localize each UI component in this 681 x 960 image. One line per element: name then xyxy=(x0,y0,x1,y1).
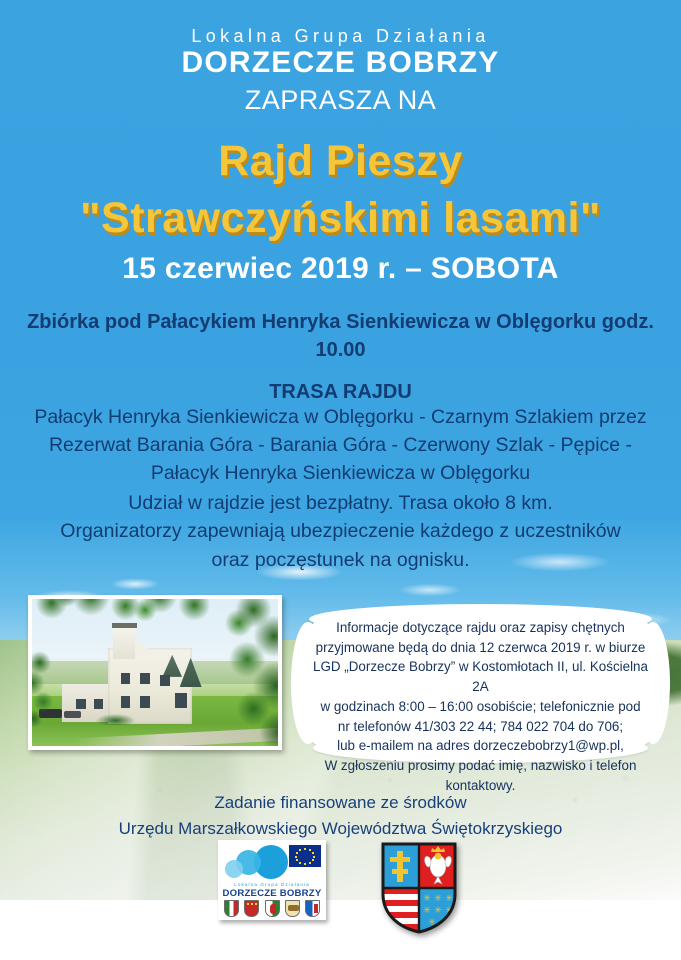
route-line-1: Pałacyk Henryka Sienkiewicza w Oblęgorku… xyxy=(18,403,663,431)
contact-info-text: Informacje dotyczące rajdu oraz zapisy c… xyxy=(307,618,654,795)
photo-window xyxy=(160,675,170,685)
svg-text:✳: ✳ xyxy=(434,893,442,903)
route-heading: TRASA RAJDU xyxy=(0,381,681,404)
logo-row: Lokalna Grupa Działania DORZECZE BOBRZY xyxy=(0,840,681,945)
contact-line-6: lub e-mailem na adres dorzeczebobrzy1@wp… xyxy=(307,736,654,756)
svg-text:✳: ✳ xyxy=(445,893,453,903)
participation-line-2: Organizatorzy zapewniają ubezpieczenie k… xyxy=(30,517,651,545)
route-description: Pałacyk Henryka Sienkiewicza w Oblęgorku… xyxy=(18,403,663,487)
route-line-3: Pałacyk Henryka Sienkiewicza w Oblęgorku xyxy=(18,459,663,487)
contact-line-5: nr telefonów 41/303 22 44; 784 022 704 d… xyxy=(307,717,654,737)
shield-icon-4 xyxy=(285,900,300,917)
organizer-name: DORZECZE BOBRZY xyxy=(0,46,681,80)
participation-line-1: Udział w rajdzie jest bezpłatny. Trasa o… xyxy=(30,489,651,517)
palace-photo-image xyxy=(32,599,278,746)
route-line-2: Rezerwat Barania Góra - Barania Góra - C… xyxy=(18,431,663,459)
contact-line-7: W zgłoszeniu prosimy podać imię, nazwisk… xyxy=(307,756,654,776)
photo-window xyxy=(121,673,131,685)
event-title-line1: Rajd Pieszy xyxy=(218,137,463,185)
coat-of-arms-icon: ✳✳✳ ✳✳✳ ✳✳ xyxy=(381,842,457,934)
photo-window xyxy=(76,699,86,709)
event-title-line2: "Strawczyńskimi lasami" xyxy=(0,190,681,247)
photo-foliage-canopy xyxy=(32,599,278,643)
photo-window xyxy=(121,696,131,708)
funding-note: Zadanie finansowane ze środków Urzędu Ma… xyxy=(0,790,681,841)
svg-text:✳: ✳ xyxy=(423,905,431,915)
event-date: 15 czerwiec 2019 r. – SOBOTA xyxy=(0,252,681,286)
svg-text:✳: ✳ xyxy=(423,893,431,903)
contact-line-1: Informacje dotyczące rajdu oraz zapisy c… xyxy=(307,618,654,638)
swietokrzyskie-coat-of-arms: ✳✳✳ ✳✳✳ ✳✳ xyxy=(381,842,457,934)
contact-info-bubble: Informacje dotyczące rajdu oraz zapisy c… xyxy=(303,612,658,754)
shield-icon-5 xyxy=(305,900,320,917)
bubble-small xyxy=(225,860,243,878)
contact-line-3: LGD „Dorzecze Bobrzy” w Kostomłotach II,… xyxy=(307,657,654,696)
poster-content: Lokalna Grupa Działania DORZECZE BOBRZY … xyxy=(0,0,681,960)
participation-info: Udział w rajdzie jest bezpłatny. Trasa o… xyxy=(30,489,651,574)
photo-window xyxy=(94,699,104,709)
contact-line-2: przyjmowane będą do dnia 12 czerwca 2019… xyxy=(307,638,654,658)
meeting-line-1: Zbiórka pod Pałacykiem Henryka Sienkiewi… xyxy=(27,311,469,333)
photo-window xyxy=(175,693,187,708)
event-title: Rajd Pieszy "Strawczyńskimi lasami" xyxy=(0,133,681,247)
lgd-logo-kicker: Lokalna Grupa Działania xyxy=(218,882,326,887)
shield-icon-3 xyxy=(265,900,280,917)
photo-car xyxy=(64,711,81,718)
photo-tree-left xyxy=(32,649,66,734)
photo-bushes xyxy=(96,714,135,726)
svg-text:✳: ✳ xyxy=(434,905,442,915)
meeting-point: Zbiórka pod Pałacykiem Henryka Sienkiewi… xyxy=(0,308,681,365)
contact-line-4: w godzinach 8:00 – 16:00 osobiście; tele… xyxy=(307,697,654,717)
shield-icon-2 xyxy=(244,900,259,917)
photo-window xyxy=(140,673,150,685)
photo-window xyxy=(140,696,150,708)
funding-line-1: Zadanie finansowane ze środków xyxy=(0,790,681,816)
shield-icon-1 xyxy=(224,900,239,917)
eu-flag-icon xyxy=(289,845,321,867)
lgd-bubbles-icon xyxy=(222,844,290,882)
organizer-kicker: Lokalna Grupa Działania xyxy=(0,26,681,47)
poster: Lokalna Grupa Działania DORZECZE BOBRZY … xyxy=(0,0,681,960)
participation-line-3: oraz poczęstunek na ognisku. xyxy=(30,546,651,574)
lgd-logo: Lokalna Grupa Działania DORZECZE BOBRZY xyxy=(218,840,326,920)
funding-line-2: Urzędu Marszałkowskiego Województwa Świę… xyxy=(0,816,681,842)
municipality-shields xyxy=(224,900,320,917)
lgd-logo-name: DORZECZE BOBRZY xyxy=(218,888,326,899)
invites-text: ZAPRASZA NA xyxy=(0,85,681,116)
palace-photo xyxy=(28,595,282,750)
